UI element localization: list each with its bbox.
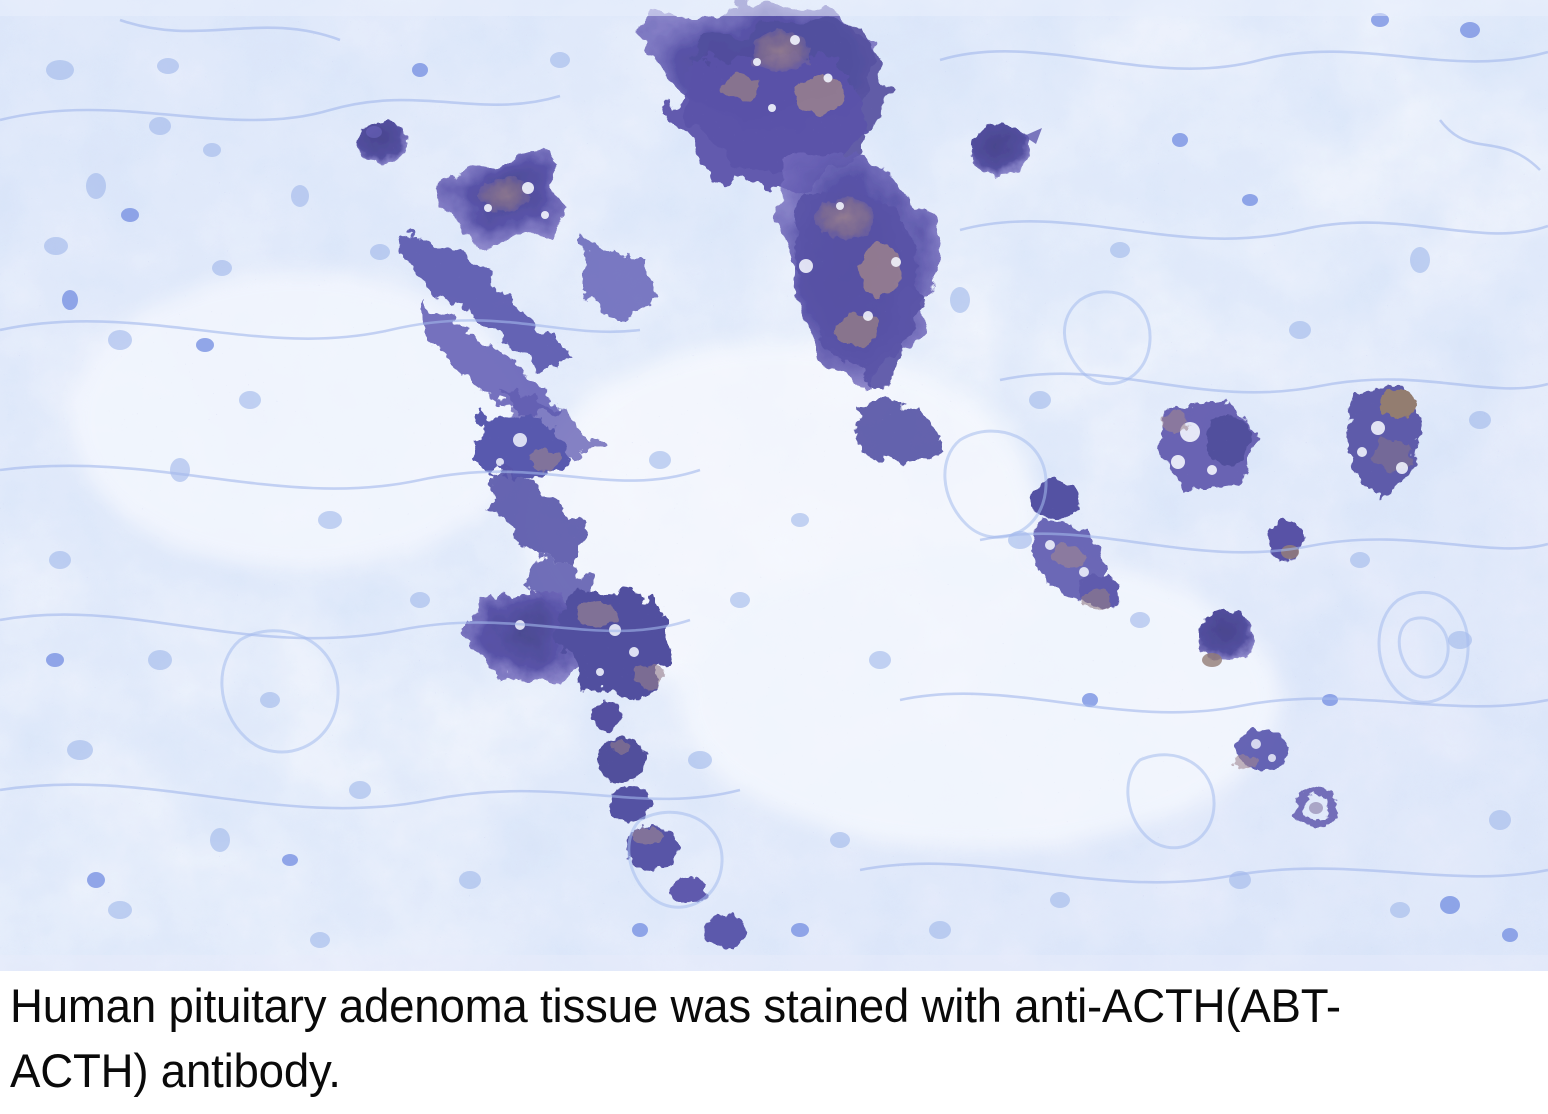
micrograph-image (0, 0, 1548, 971)
micrograph-panel (0, 0, 1548, 971)
figure-caption: Human pituitary adenoma tissue was stain… (10, 973, 1387, 1103)
figure-caption-band: Human pituitary adenoma tissue was stain… (0, 971, 1548, 1114)
figure-container: Human pituitary adenoma tissue was stain… (0, 0, 1548, 1114)
